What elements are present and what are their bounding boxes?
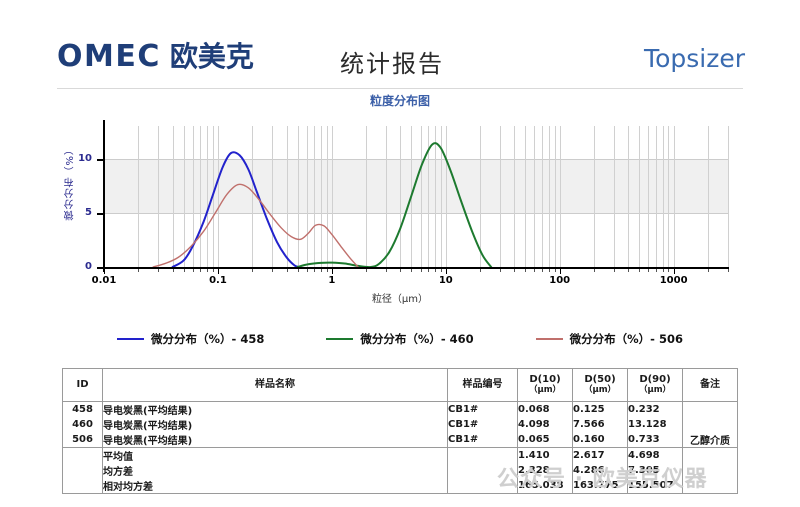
results-table-container: ID样品名称样品编号D(10)（μm）D(50)（μm）D(90)（μm）备注 …	[62, 368, 737, 503]
cell-note	[683, 448, 738, 464]
x-tick-minor	[421, 269, 422, 272]
chart-title: 粒度分布图	[57, 92, 743, 109]
x-tick-minor	[138, 269, 139, 272]
series-curve	[298, 143, 492, 267]
table-row[interactable]: 506导电炭黑(平均结果)CB1#0.0650.1600.733乙醇介质	[63, 432, 738, 448]
x-tick-label: 100	[549, 275, 570, 286]
x-tick-minor	[428, 269, 429, 272]
table-column-header: 样品名称	[103, 369, 448, 402]
x-tick-minor	[500, 269, 501, 272]
table-row[interactable]: 相对均方差165.038163.775155.507	[63, 478, 738, 494]
cell-sample-code: CB1#	[448, 402, 518, 418]
x-tick-minor	[614, 269, 615, 272]
x-tick-minor	[534, 269, 535, 272]
x-tick-minor	[287, 269, 288, 272]
x-tick-major	[674, 269, 675, 274]
table-row[interactable]: 平均值1.4102.6174.698	[63, 448, 738, 464]
cell-d50: 4.286	[573, 463, 628, 478]
x-tick-label: 1	[328, 275, 335, 286]
cell-d90: 0.733	[628, 432, 683, 448]
x-tick-major	[332, 269, 333, 274]
cell-note: 乙醇介质	[683, 432, 738, 448]
x-tick-minor	[648, 269, 649, 272]
x-tick-minor	[321, 269, 322, 272]
column-header-label: D(90)	[639, 374, 670, 385]
x-tick-major	[446, 269, 447, 274]
table-head: ID样品名称样品编号D(10)（μm）D(50)（μm）D(90)（μm）备注	[63, 369, 738, 402]
cell-sample-code: CB1#	[448, 417, 518, 432]
x-tick-label: 10	[439, 275, 453, 286]
x-tick-minor	[480, 269, 481, 272]
cell-d10: 165.038	[518, 478, 573, 494]
table-header-row: ID样品名称样品编号D(10)（μm）D(50)（μm）D(90)（μm）备注	[63, 369, 738, 402]
x-tick-minor	[298, 269, 299, 272]
y-tick-label: 5	[70, 207, 92, 218]
chart-legend: 微分分布（%）- 458微分分布（%）- 460微分分布（%）- 506	[57, 328, 743, 350]
cell-sample-name: 导电炭黑(平均结果)	[103, 417, 448, 432]
y-tick-mark	[97, 213, 104, 215]
cell-id: 458	[63, 402, 103, 418]
table-row[interactable]: 460导电炭黑(平均结果)CB1#4.0987.56613.128	[63, 417, 738, 432]
column-header-unit: （μm）	[628, 386, 682, 396]
cell-id	[63, 463, 103, 478]
x-tick-minor	[549, 269, 550, 272]
table-row[interactable]: 458导电炭黑(平均结果)CB1#0.0680.1250.232	[63, 402, 738, 418]
x-tick-minor	[555, 269, 556, 272]
x-tick-minor	[158, 269, 159, 272]
cell-note	[683, 402, 738, 418]
x-tick-minor	[252, 269, 253, 272]
x-tick-minor	[327, 269, 328, 272]
logo-wordmark: OMEC	[57, 42, 161, 72]
x-tick-minor	[184, 269, 185, 272]
legend-item[interactable]: 微分分布（%）- 458	[117, 331, 264, 347]
table-row[interactable]: 均方差2.3284.2867.305	[63, 463, 738, 478]
cell-d50: 0.160	[573, 432, 628, 448]
y-axis-line	[103, 120, 105, 272]
cell-id	[63, 478, 103, 494]
results-table: ID样品名称样品编号D(10)（μm）D(50)（μm）D(90)（μm）备注 …	[62, 368, 738, 494]
cell-id: 506	[63, 432, 103, 448]
cell-sample-name: 均方差	[103, 463, 448, 478]
header-divider	[57, 88, 743, 89]
omec-logo: OMEC 欧美克	[57, 42, 254, 72]
table-column-header: D(10)（μm）	[518, 369, 573, 402]
cell-d90: 0.232	[628, 402, 683, 418]
cell-d50: 0.125	[573, 402, 628, 418]
cell-sample-name: 相对均方差	[103, 478, 448, 494]
column-header-label: D(10)	[529, 374, 560, 385]
x-tick-minor	[628, 269, 629, 272]
x-tick-minor	[400, 269, 401, 272]
cell-d10: 0.068	[518, 402, 573, 418]
x-tick-minor	[411, 269, 412, 272]
y-tick-mark	[97, 159, 104, 161]
cell-sample-name: 导电炭黑(平均结果)	[103, 402, 448, 418]
x-tick-minor	[656, 269, 657, 272]
cell-d10: 2.328	[518, 463, 573, 478]
x-tick-minor	[514, 269, 515, 272]
page-title: 统计报告	[340, 44, 444, 79]
x-tick-minor	[307, 269, 308, 272]
x-tick-major	[560, 269, 561, 274]
y-tick-label: 0	[70, 261, 92, 272]
y-tick-label: 10	[70, 153, 92, 164]
product-brand-label: Topsizer	[644, 44, 745, 73]
cell-note	[683, 417, 738, 432]
cell-d90: 155.507	[628, 478, 683, 494]
cell-d50: 2.617	[573, 448, 628, 464]
table-column-header: 样品编号	[448, 369, 518, 402]
x-tick-major	[104, 269, 105, 274]
column-header-label: 样品名称	[255, 379, 295, 390]
table-column-header: 备注	[683, 369, 738, 402]
particle-size-distribution-chart: 粒度分布图 微分分布（%） 0510 0.010.11101001000 粒径（…	[57, 92, 743, 317]
cell-d10: 1.410	[518, 448, 573, 464]
x-tick-minor	[386, 269, 387, 272]
cell-d50: 163.775	[573, 478, 628, 494]
x-tick-minor	[542, 269, 543, 272]
legend-color-swatch	[536, 338, 563, 340]
column-header-unit: （μm）	[573, 386, 627, 396]
x-tick-minor	[525, 269, 526, 272]
column-header-label: D(50)	[584, 374, 615, 385]
x-axis-line	[103, 267, 729, 269]
cell-sample-code: CB1#	[448, 432, 518, 448]
x-tick-minor	[173, 269, 174, 272]
legend-item[interactable]: 微分分布（%）- 506	[536, 331, 683, 347]
cell-d90: 7.305	[628, 463, 683, 478]
table-body: 458导电炭黑(平均结果)CB1#0.0680.1250.232460导电炭黑(…	[63, 402, 738, 494]
legend-color-swatch	[326, 338, 353, 340]
legend-item[interactable]: 微分分布（%）- 460	[326, 331, 473, 347]
x-tick-minor	[272, 269, 273, 272]
x-tick-minor	[708, 269, 709, 272]
cell-note	[683, 463, 738, 478]
legend-label: 微分分布（%）- 458	[151, 331, 264, 347]
x-tick-minor	[213, 269, 214, 272]
y-tick-mark	[97, 267, 104, 269]
page-header: OMEC 欧美克 统计报告 Topsizer	[0, 0, 800, 88]
x-tick-minor	[639, 269, 640, 272]
series-curve	[153, 184, 358, 267]
legend-color-swatch	[117, 338, 144, 340]
column-header-unit: （μm）	[518, 386, 572, 396]
cell-d10: 4.098	[518, 417, 573, 432]
x-tick-minor	[314, 269, 315, 272]
x-axis-title: 粒径（μm）	[57, 290, 743, 305]
x-tick-major	[218, 269, 219, 274]
logo-chinese-name: 欧美克	[170, 43, 254, 71]
x-tick-minor	[668, 269, 669, 272]
cell-sample-name: 平均值	[103, 448, 448, 464]
x-tick-minor	[728, 269, 729, 272]
x-tick-minor	[366, 269, 367, 272]
legend-label: 微分分布（%）- 460	[360, 331, 473, 347]
table-column-header: D(50)（μm）	[573, 369, 628, 402]
cell-sample-code	[448, 478, 518, 494]
cell-d90: 13.128	[628, 417, 683, 432]
table-column-header: D(90)（μm）	[628, 369, 683, 402]
column-header-label: 备注	[700, 379, 720, 390]
x-tick-label: 0.01	[92, 275, 117, 286]
column-header-label: ID	[76, 379, 88, 390]
x-tick-minor	[207, 269, 208, 272]
cell-d50: 7.566	[573, 417, 628, 432]
cell-sample-code	[448, 463, 518, 478]
cell-id: 460	[63, 417, 103, 432]
x-tick-minor	[663, 269, 664, 272]
x-tick-minor	[441, 269, 442, 272]
x-tick-minor	[594, 269, 595, 272]
vertical-gridline	[728, 126, 729, 267]
series-curve	[173, 152, 300, 267]
x-tick-label: 1000	[660, 275, 688, 286]
cell-sample-code	[448, 448, 518, 464]
x-tick-minor	[435, 269, 436, 272]
legend-label: 微分分布（%）- 506	[570, 331, 683, 347]
cell-id	[63, 448, 103, 464]
x-tick-label: 0.1	[209, 275, 227, 286]
column-header-label: 样品编号	[463, 379, 503, 390]
chart-curves	[104, 126, 728, 267]
cell-d90: 4.698	[628, 448, 683, 464]
cell-sample-name: 导电炭黑(平均结果)	[103, 432, 448, 448]
cell-d10: 0.065	[518, 432, 573, 448]
x-tick-minor	[200, 269, 201, 272]
table-column-header: ID	[63, 369, 103, 402]
cell-note	[683, 478, 738, 494]
x-tick-minor	[193, 269, 194, 272]
